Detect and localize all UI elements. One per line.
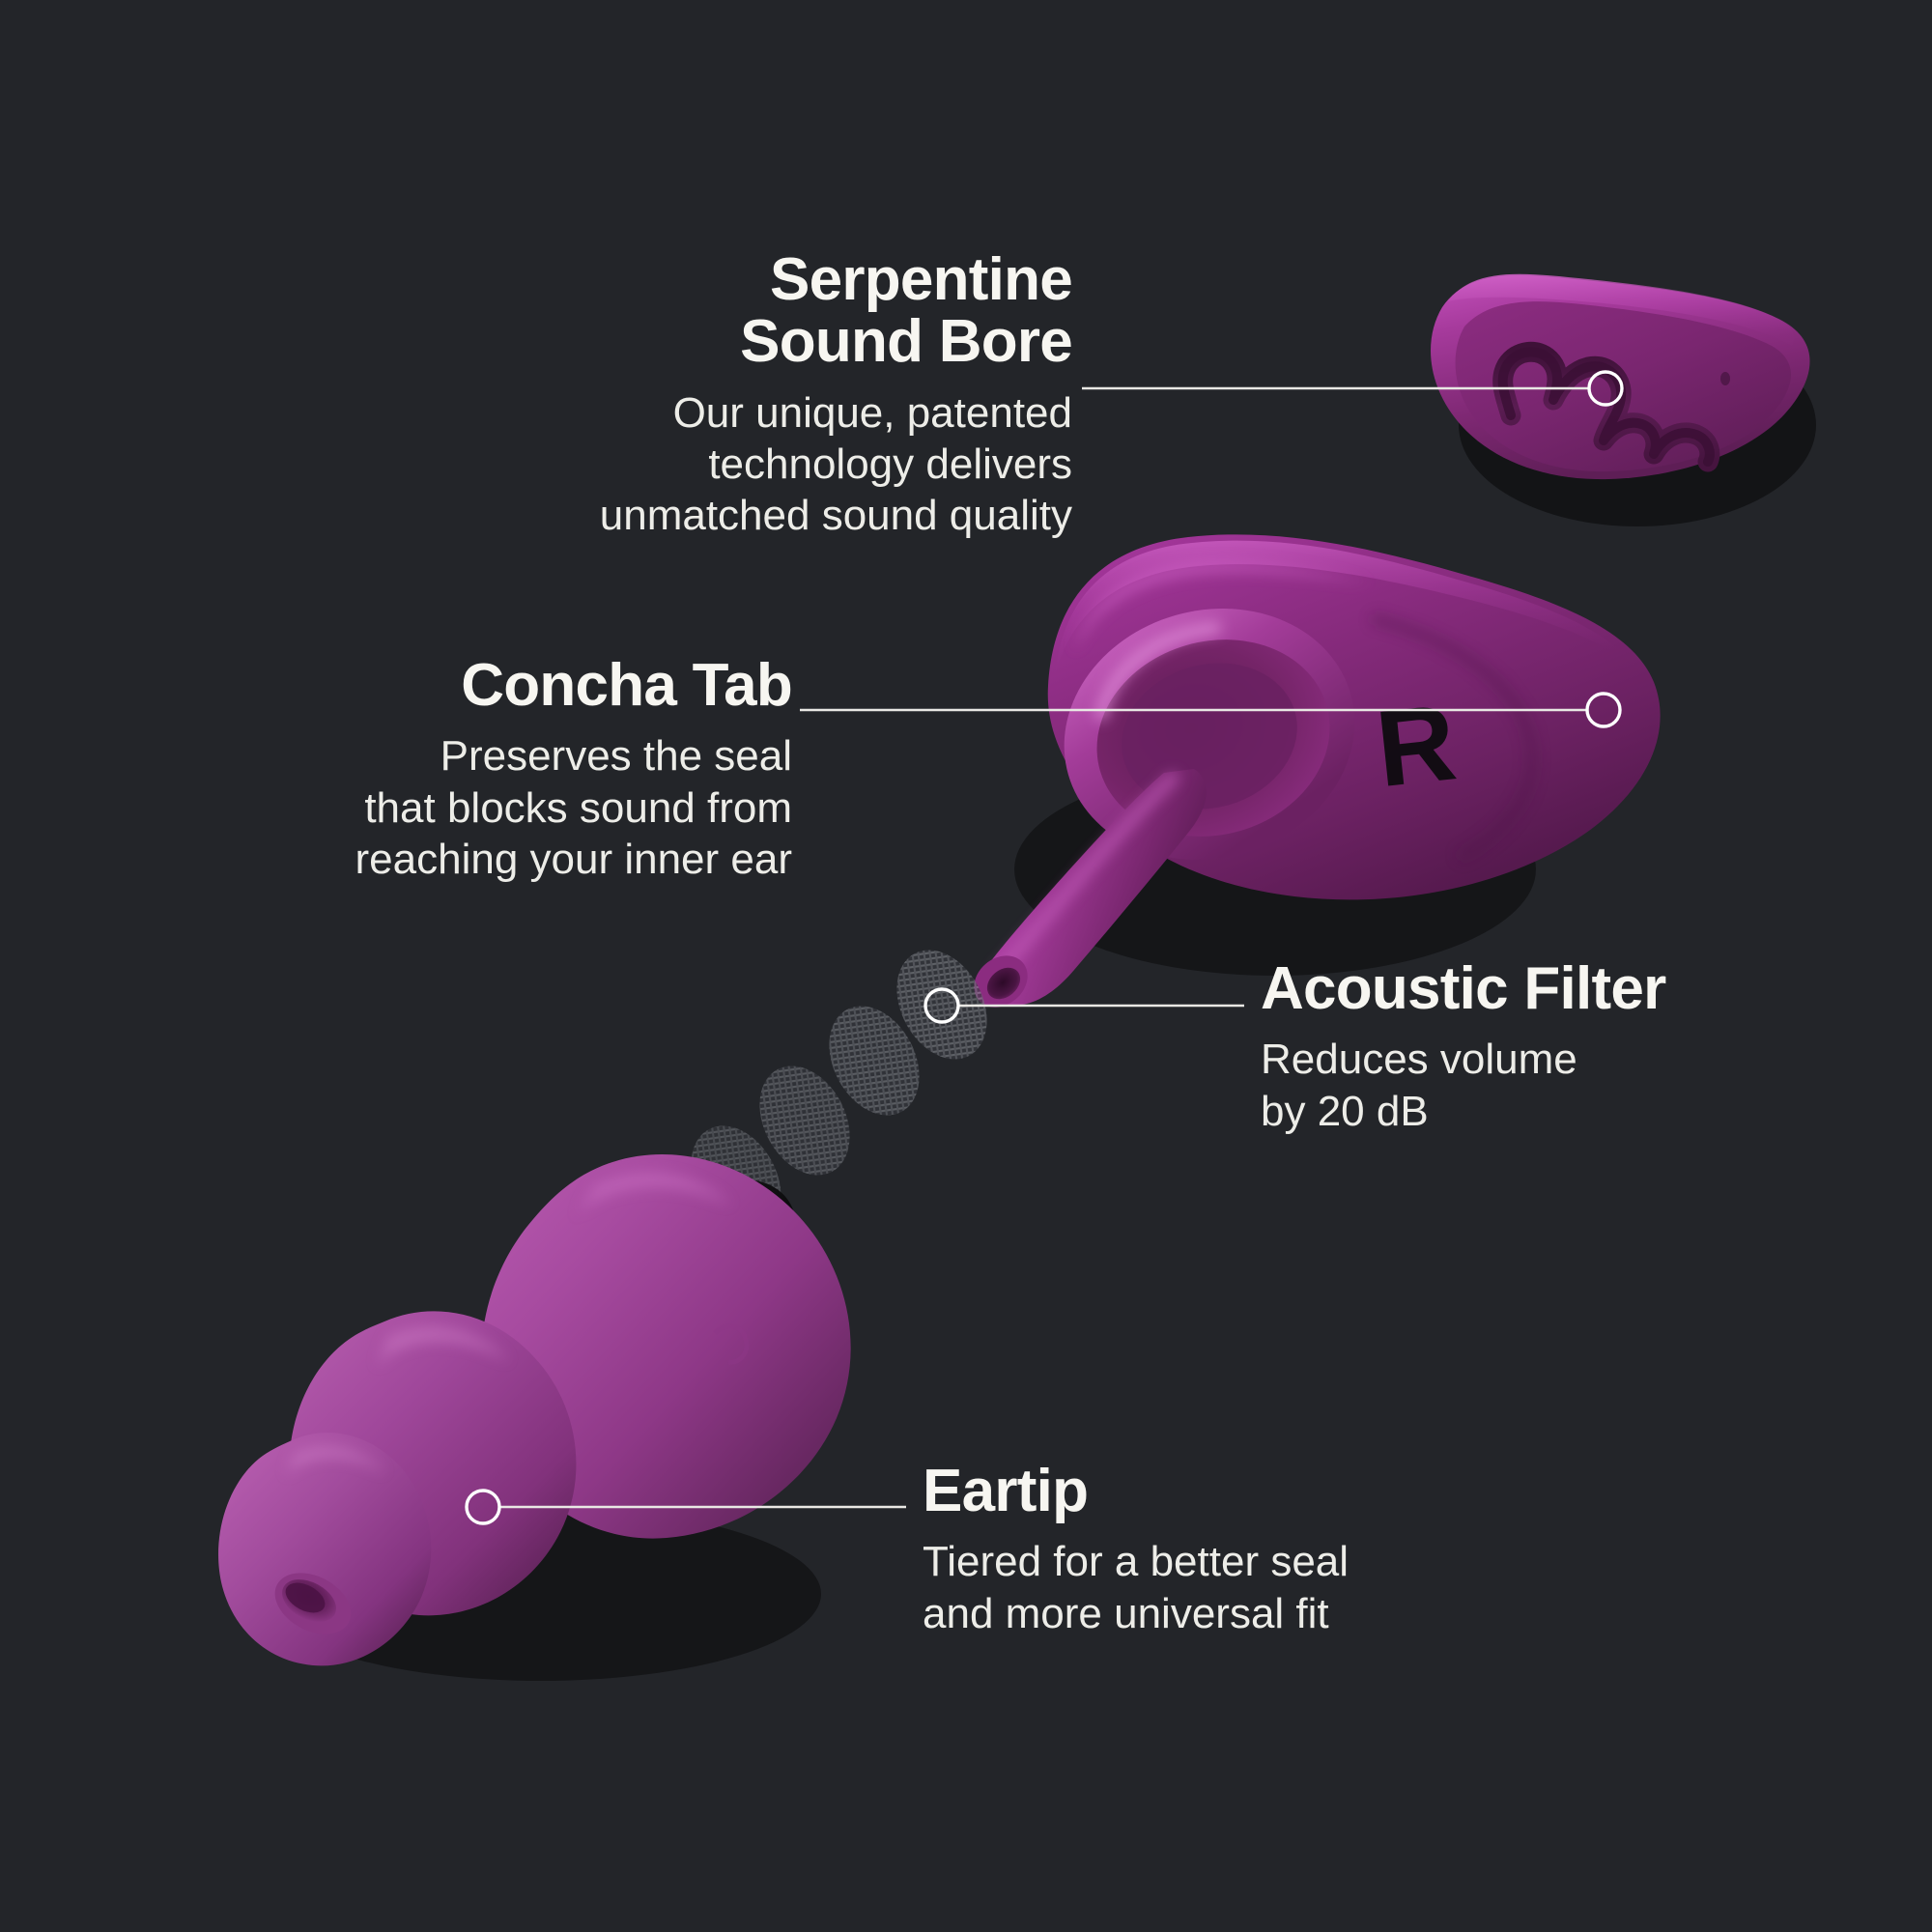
cap-vent-hole — [1720, 372, 1730, 385]
tiered-eartip — [218, 1154, 851, 1681]
callout-acoustic-filter-desc-line-2: by 20 dB — [1261, 1086, 1879, 1137]
callout-serpentine-desc-line-2: technology delivers — [406, 439, 1072, 490]
callout-acoustic-filter: Acoustic Filter Reduces volume by 20 dB — [1261, 958, 1879, 1137]
callout-acoustic-filter-description: Reduces volume by 20 dB — [1261, 1034, 1879, 1136]
callout-serpentine-title-line-1: Serpentine — [770, 246, 1072, 313]
callout-serpentine-desc-line-1: Our unique, patented — [406, 387, 1072, 439]
serpentine-sound-bore-cap — [1431, 274, 1816, 526]
callout-eartip-desc-line-2: and more universal fit — [923, 1588, 1541, 1639]
callout-concha-tab: Concha Tab Preserves the seal that block… — [174, 655, 792, 885]
callout-concha-tab-desc-line-3: reaching your inner ear — [174, 834, 792, 885]
callout-concha-tab-desc-line-2: that blocks sound from — [174, 782, 792, 834]
callout-concha-tab-desc-line-1: Preserves the seal — [174, 730, 792, 781]
callout-concha-tab-title: Concha Tab — [174, 655, 792, 717]
callout-serpentine: Serpentine Sound Bore Our unique, patent… — [406, 249, 1072, 542]
callout-serpentine-title-line-2: Sound Bore — [740, 308, 1072, 375]
concha-tab-body: R — [964, 534, 1661, 1017]
callout-serpentine-desc-line-3: unmatched sound quality — [406, 490, 1072, 541]
body-marking-r: R — [1371, 681, 1462, 810]
callout-acoustic-filter-desc-line-1: Reduces volume — [1261, 1034, 1879, 1085]
callout-eartip-description: Tiered for a better seal and more univer… — [923, 1536, 1541, 1638]
callout-concha-tab-description: Preserves the seal that blocks sound fro… — [174, 730, 792, 885]
callout-eartip-desc-line-1: Tiered for a better seal — [923, 1536, 1541, 1587]
callout-eartip: Eartip Tiered for a better seal and more… — [923, 1461, 1541, 1639]
callout-eartip-title: Eartip — [923, 1461, 1541, 1522]
infographic-canvas: R — [0, 0, 1932, 1932]
callout-serpentine-description: Our unique, patented technology delivers… — [406, 387, 1072, 542]
callout-serpentine-title: Serpentine Sound Bore — [406, 249, 1072, 374]
callout-acoustic-filter-title: Acoustic Filter — [1261, 958, 1879, 1020]
